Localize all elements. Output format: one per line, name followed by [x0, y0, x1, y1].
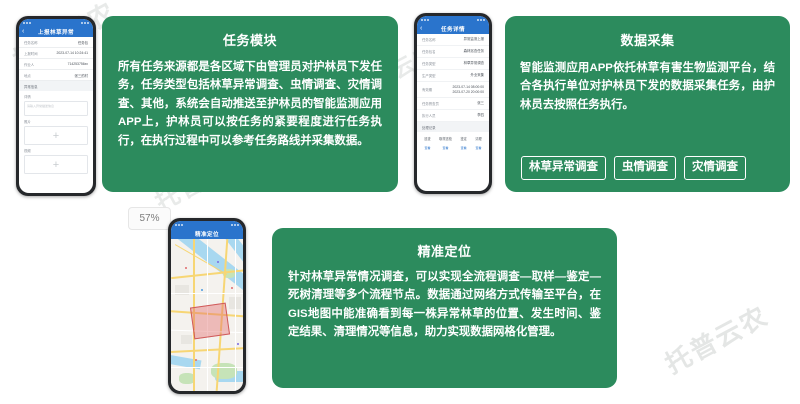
row-value: 张三	[477, 101, 484, 106]
card-title: 精准定位	[288, 241, 601, 260]
map-pin[interactable]	[217, 261, 219, 263]
row-value: 714253756xx	[68, 62, 88, 66]
button-pest-survey[interactable]: 虫情调查	[614, 156, 676, 181]
card-body: 智能监测应用APP依托林草有害生物监测平台，结合各执行单位对护林员下发的数据采集…	[520, 59, 775, 114]
card-task-module: 任务模块 所有任务来源都是各区域下由管理员对护林员下发任务，任务类型包括林草异常…	[102, 16, 398, 192]
slide-canvas: 托普云农 托普云农 托普云农 托普云农 托普云农 托普云农 ‹ 上报林草异常 任…	[0, 0, 800, 404]
row-value: 森林巡查任务	[464, 49, 484, 54]
map-pin[interactable]	[185, 267, 187, 269]
field-label: 照片	[24, 119, 88, 124]
row-label: 任务类型	[422, 61, 436, 66]
process-step[interactable]: 取样送检 查看	[439, 136, 452, 150]
detail-field: 详情 请输入异常描述信息	[19, 91, 93, 116]
detail-row: 有效期 2023-07-14 08:00:00 2023-07-20 20:00…	[417, 82, 489, 98]
signal-icon	[23, 22, 31, 24]
process-step[interactable]: 鉴定 查看	[460, 136, 466, 150]
form-row: 地点 张三的村	[19, 70, 93, 81]
detail-row: 任务督查员 张三	[417, 98, 489, 110]
row-value: 异常监测上报	[464, 37, 484, 42]
row-label: 地点	[24, 73, 31, 78]
video-field: 视频 +	[19, 145, 93, 174]
field-label: 视频	[24, 148, 88, 153]
row-value: 任务包	[78, 40, 88, 45]
process-step[interactable]: 清理 查看	[475, 136, 481, 150]
step-name: 鉴定	[460, 136, 466, 141]
row-value: 李四	[477, 113, 484, 118]
row-value: 外业采集	[470, 73, 484, 78]
step-name: 巡查	[424, 136, 430, 141]
detail-row: 任务类型 林草异常调查	[417, 58, 489, 70]
step-link[interactable]: 查看	[439, 146, 452, 150]
photo-field: 照片 +	[19, 116, 93, 145]
nav-title: 精准定位	[195, 230, 219, 238]
status-bar	[19, 19, 93, 26]
detail-row: 任务包名 森林巡查任务	[417, 46, 489, 58]
field-label: 详情	[24, 94, 88, 99]
section-header: 异常信息	[19, 81, 93, 91]
row-label: 任务督查员	[422, 101, 439, 106]
step-name: 清理	[475, 136, 481, 141]
nav-bar: ‹ 上报林草异常	[19, 26, 93, 37]
battery-icon	[81, 22, 89, 24]
phone-mockup-map: 精准定位	[168, 218, 246, 394]
button-forest-anomaly-survey[interactable]: 林草异常调查	[521, 156, 606, 181]
row-label: 执行人员	[422, 113, 436, 118]
map-view[interactable]	[171, 239, 243, 391]
phone-screen: 精准定位	[171, 221, 243, 391]
form-row: 上报时间 2023-07-14 10:24:41	[19, 48, 93, 59]
row-label: 生产类型	[422, 73, 436, 78]
detail-row: 生产类型 外业采集	[417, 70, 489, 82]
phone-screen: ‹ 上报林草异常 任务名称 任务包 上报时间 2023-07-14 10:24:…	[19, 19, 93, 193]
row-label: 任务名称	[422, 37, 436, 42]
chevron-left-icon[interactable]: ‹	[22, 28, 24, 35]
survey-button-group: 林草异常调查 虫情调查 灾情调查	[521, 156, 746, 181]
card-body: 针对林草异常情况调查，可以实现全流程调查—取样—鉴定—死树清理等多个流程节点。数…	[288, 268, 601, 342]
map-pin[interactable]	[195, 359, 197, 361]
nav-title: 上报林草异常	[38, 28, 74, 36]
phone-mockup-task-detail: ‹ 任务详情 任务名称 异常监测上报 任务包名 森林巡查任务 任务类型 林草异常…	[414, 13, 492, 194]
row-label: 任务名称	[24, 40, 38, 45]
process-actions: 巡查 查看 取样送检 查看 鉴定 查看 清理 查看	[417, 132, 489, 152]
nav-bar: ‹ 任务详情	[417, 23, 489, 34]
card-title: 任务模块	[118, 30, 382, 49]
plus-icon[interactable]: +	[24, 155, 88, 174]
nav-bar: 精准定位	[171, 228, 243, 239]
row-value: 2023-07-14 08:00:00 2023-07-20 20:00:00	[453, 85, 484, 94]
battery-icon	[231, 224, 239, 226]
form-row: 作业人 714253756xx	[19, 59, 93, 70]
nav-title: 任务详情	[441, 25, 465, 33]
card-title: 数据采集	[520, 30, 775, 49]
row-label: 作业人	[24, 62, 34, 67]
card-precise-location: 精准定位 针对林草异常情况调查，可以实现全流程调查—取样—鉴定—死树清理等多个流…	[272, 228, 617, 388]
step-link[interactable]: 查看	[424, 146, 430, 150]
step-link[interactable]: 查看	[460, 146, 466, 150]
card-body: 所有任务来源都是各区域下由管理员对护林员下发任务，任务类型包括林草异常调查、虫情…	[118, 58, 382, 150]
signal-icon	[421, 19, 429, 21]
row-label: 上报时间	[24, 51, 38, 56]
row-value: 2023-07-14 10:24:41	[57, 51, 88, 55]
battery-icon	[477, 19, 485, 21]
button-disaster-survey[interactable]: 灾情调查	[684, 156, 746, 181]
row-label: 任务包名	[422, 49, 436, 54]
section-header: 处理记录	[417, 122, 489, 132]
detail-row: 任务名称 异常监测上报	[417, 34, 489, 46]
anomaly-region-polygon[interactable]	[190, 303, 230, 340]
detail-input[interactable]: 请输入异常描述信息	[24, 101, 88, 116]
process-step[interactable]: 巡查 查看	[424, 136, 430, 150]
map-pin[interactable]	[231, 287, 233, 289]
phone-screen: ‹ 任务详情 任务名称 异常监测上报 任务包名 森林巡查任务 任务类型 林草异常…	[417, 16, 489, 191]
map-pin[interactable]	[237, 343, 239, 345]
form-row: 任务名称 任务包	[19, 37, 93, 48]
progress-badge: 57%	[128, 207, 171, 230]
map-canvas[interactable]	[171, 239, 243, 391]
watermark: 托普云农	[658, 296, 774, 381]
step-name: 取样送检	[439, 136, 452, 141]
row-label: 有效期	[422, 87, 432, 92]
step-link[interactable]: 查看	[475, 146, 481, 150]
row-value: 张三的村	[74, 73, 88, 78]
map-pin[interactable]	[201, 289, 203, 291]
chevron-left-icon[interactable]: ‹	[420, 25, 422, 32]
phone-mockup-form: ‹ 上报林草异常 任务名称 任务包 上报时间 2023-07-14 10:24:…	[16, 16, 96, 196]
status-bar	[417, 16, 489, 23]
status-bar	[171, 221, 243, 228]
card-data-collection: 数据采集 智能监测应用APP依托林草有害生物监测平台，结合各执行单位对护林员下发…	[505, 16, 790, 192]
plus-icon[interactable]: +	[24, 126, 88, 145]
row-value: 林草异常调查	[464, 61, 484, 66]
signal-icon	[175, 224, 183, 226]
detail-row: 执行人员 李四	[417, 110, 489, 122]
